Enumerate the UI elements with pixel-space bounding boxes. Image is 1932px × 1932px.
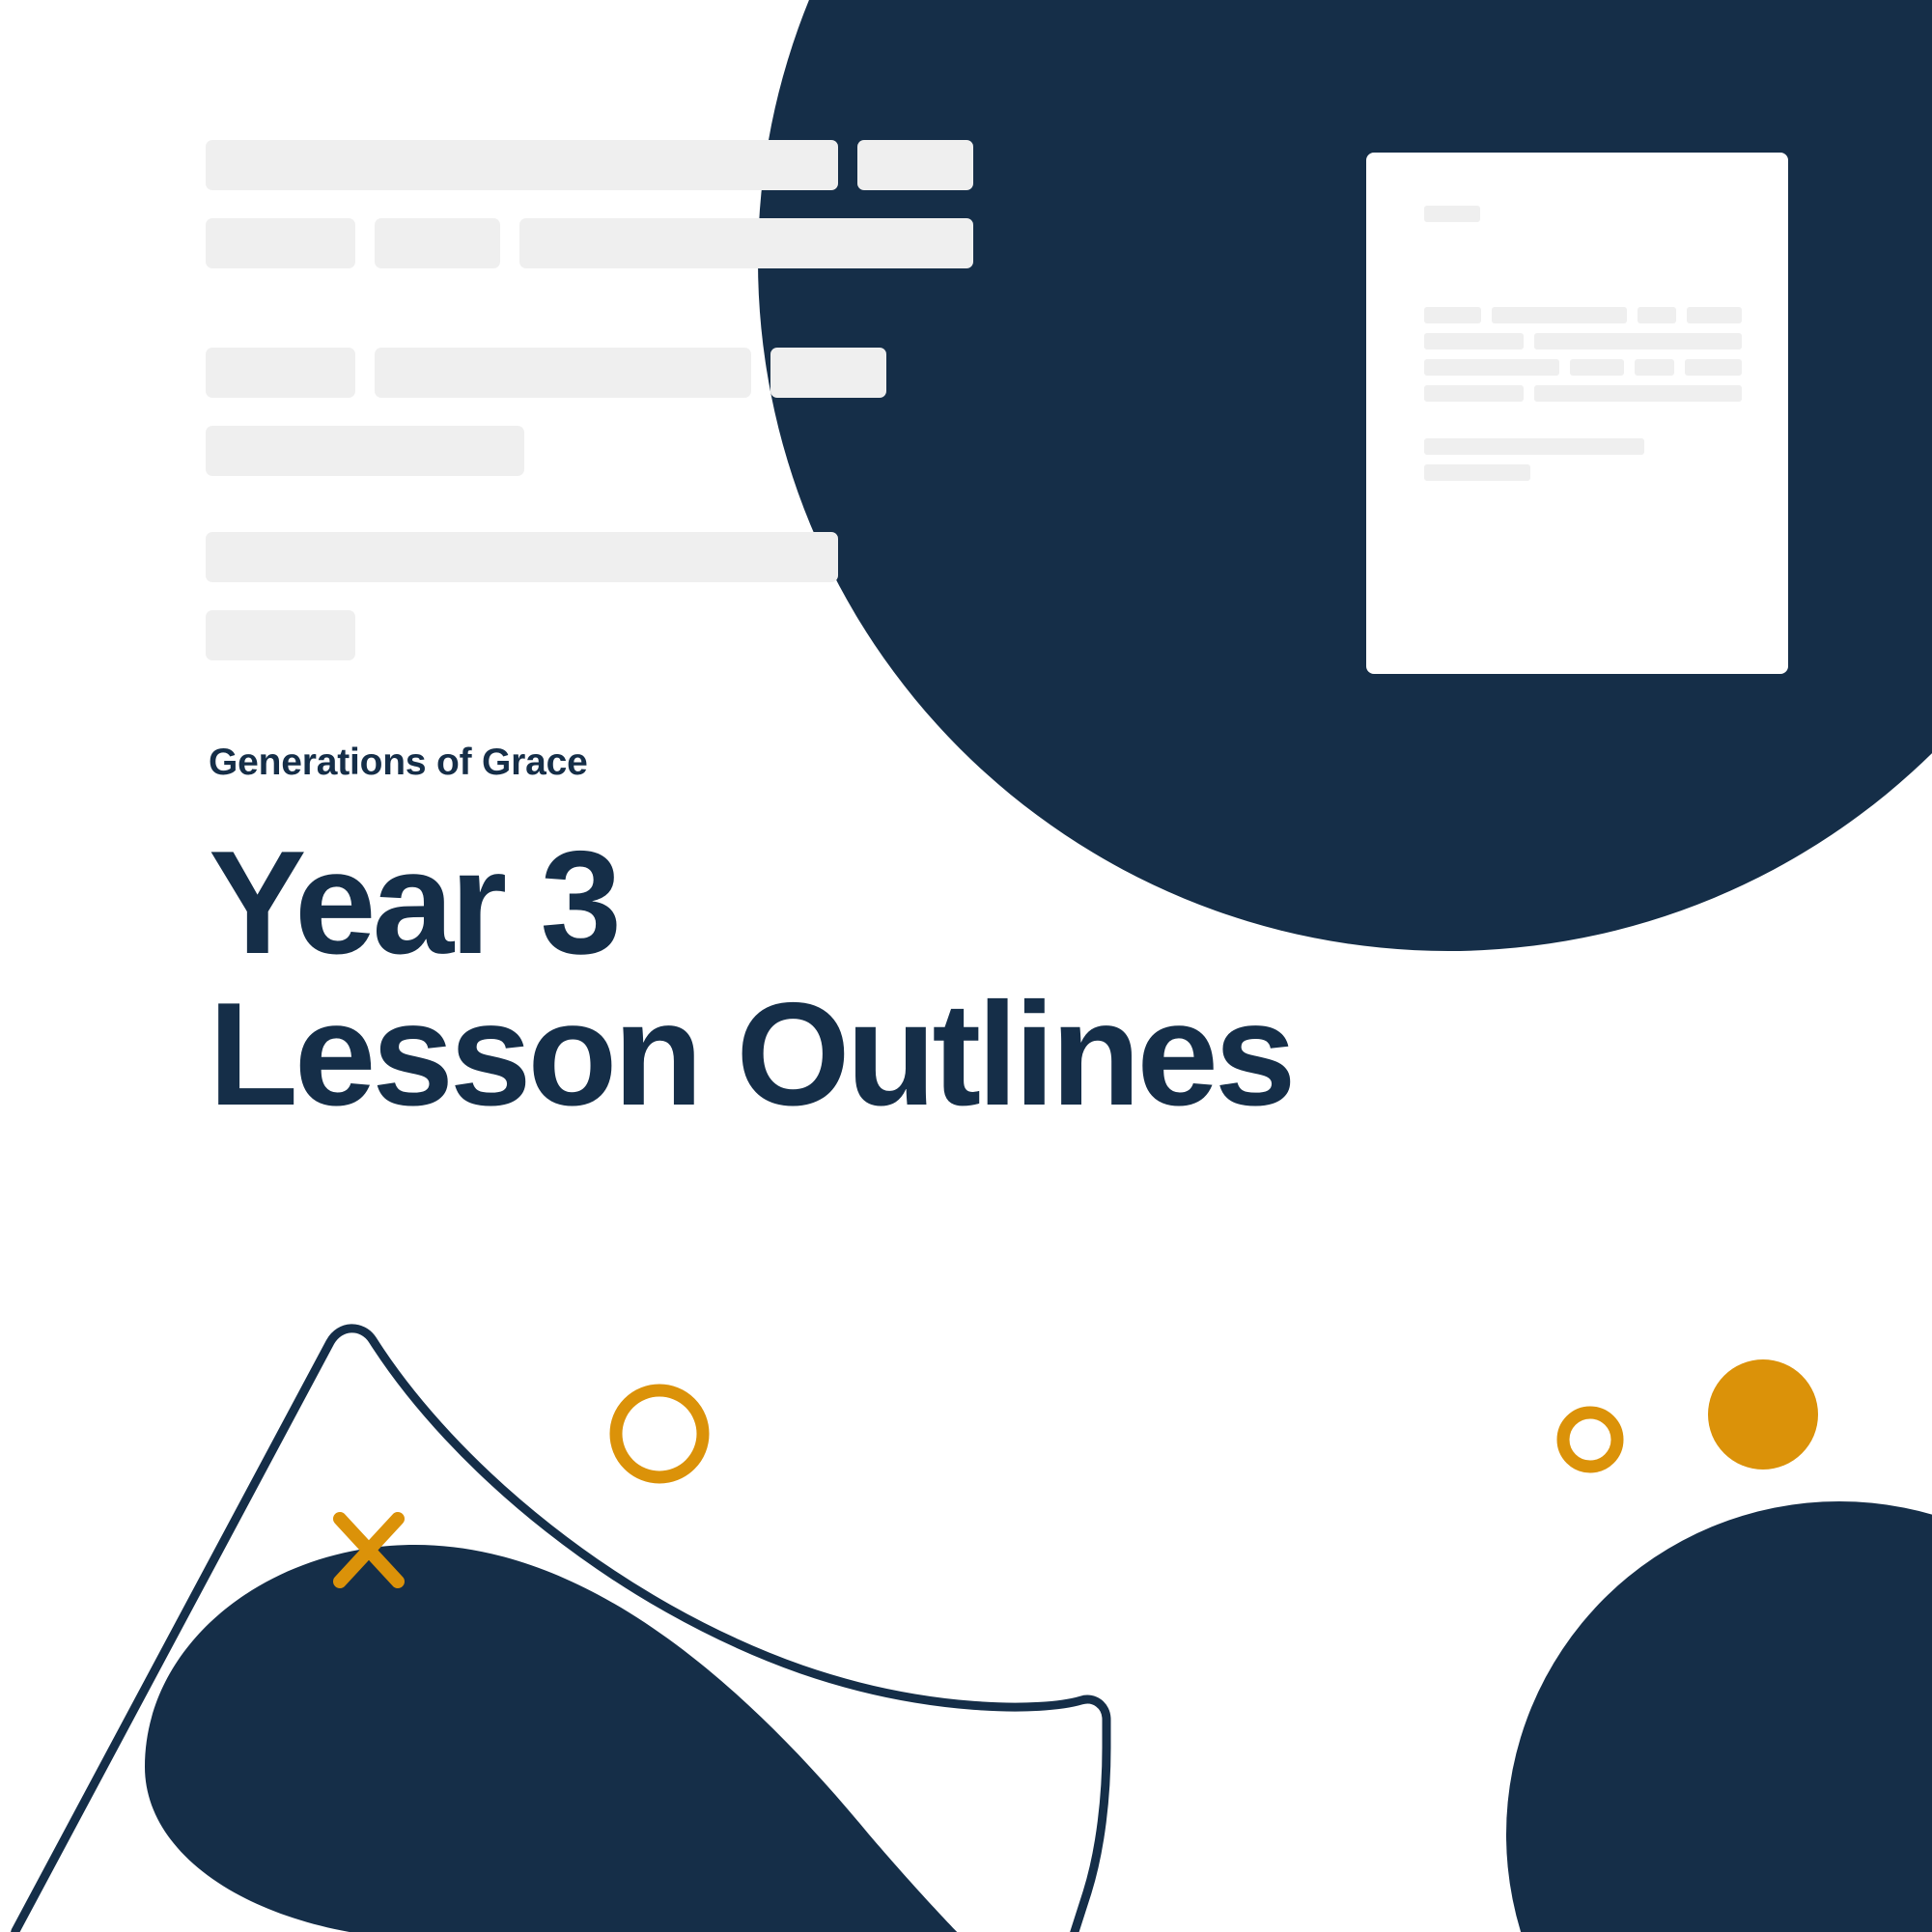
document-bar [1534,333,1742,350]
content-placeholder-skeleton [206,140,1075,584]
document-bar [1638,307,1676,323]
document-bar [1424,464,1530,481]
document-body-row [1424,307,1742,323]
document-bar [1424,385,1524,402]
skeleton-row [206,348,886,398]
skeleton-bar [519,218,973,268]
document-bar [1687,307,1742,323]
skeleton-row [206,610,355,660]
skeleton-row [206,532,838,582]
skeleton-bar [206,426,524,476]
document-body-row [1424,359,1742,376]
title-text-block: Generations of Grace Year 3 Lesson Outli… [209,743,1292,1130]
skeleton-row [206,140,973,190]
document-bar [1635,359,1674,376]
document-body-row [1424,333,1742,350]
skeleton-bar [375,218,500,268]
navy-circle-bottom-right [1506,1501,1932,1932]
document-card-content [1424,206,1742,490]
document-body-row [1424,385,1742,402]
document-bar [1424,438,1644,455]
skeleton-bar [770,348,886,398]
document-title-placeholder [1424,206,1480,222]
document-bar [1534,385,1742,402]
document-bar [1424,307,1481,323]
skeleton-bar [206,610,355,660]
page-title: Year 3 Lesson Outlines [209,827,1292,1130]
document-spacer [1424,411,1742,438]
skeleton-bar [375,348,751,398]
document-footer-row [1424,438,1742,455]
skeleton-bar [206,348,355,398]
skeleton-bar [206,218,355,268]
gold-circle-filled [1708,1359,1818,1470]
document-bar [1424,359,1559,376]
skeleton-bar [206,140,838,190]
gold-circle-outline-small [1563,1413,1617,1467]
skeleton-row [206,218,973,268]
skeleton-bar [206,532,838,582]
skeleton-row [206,426,524,476]
document-preview-card [1366,153,1788,674]
brand-eyebrow: Generations of Grace [209,743,1292,781]
document-footer-row [1424,464,1742,481]
document-bar [1570,359,1625,376]
poster-canvas: Generations of Grace Year 3 Lesson Outli… [0,0,1932,1932]
skeleton-bar [857,140,973,190]
navy-blob-bottom-left [145,1545,966,1932]
document-bar [1492,307,1627,323]
document-bar [1685,359,1742,376]
gold-circle-outline-medium [616,1390,703,1477]
document-bar [1424,333,1524,350]
